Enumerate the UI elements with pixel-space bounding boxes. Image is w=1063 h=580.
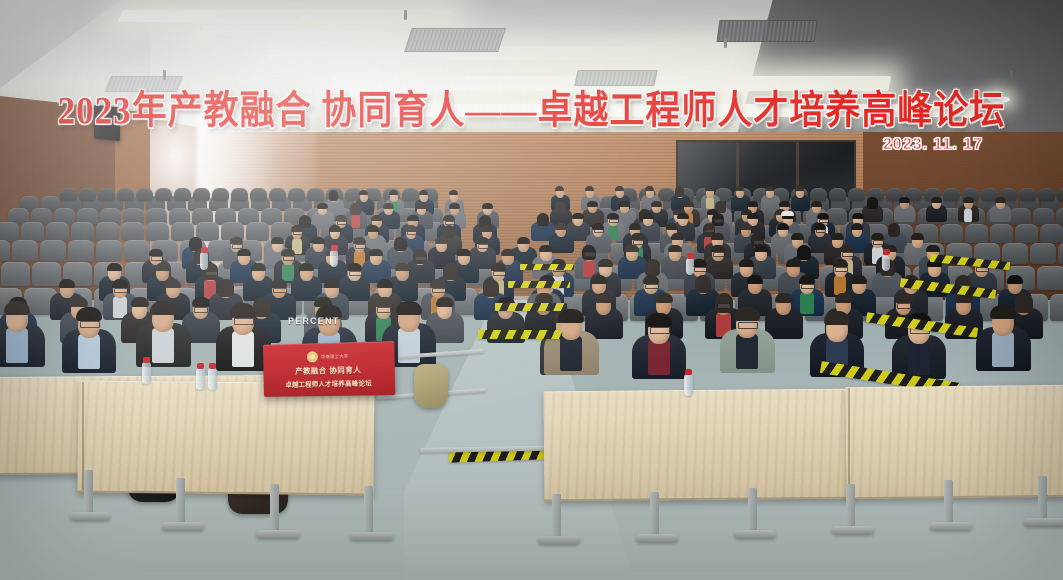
water-bottle [196,368,205,390]
grey lecture hall seat [174,188,191,201]
audience-hair [396,301,422,315]
audience-hair [598,259,613,267]
grey lecture hall seat [940,224,963,243]
grey lecture hall seat [1058,243,1063,264]
desk-foot [162,522,204,530]
audience-hair [150,301,176,315]
audience-hair [329,225,341,232]
audience-hair [483,279,499,297]
eyeglasses-icon [407,231,417,235]
audience-hair [555,186,564,191]
grey lecture hall seat [1050,294,1063,321]
audience-hair [625,245,639,252]
audience-hair [383,203,394,209]
ceiling-light-strip [266,46,740,60]
backpack [414,364,448,408]
grey lecture hall seat [307,188,324,201]
step-hazard-marker [495,303,567,311]
audience-hair [734,307,760,321]
audience-hair [359,190,368,195]
audience-hair [491,263,506,271]
grey lecture hall seat [1019,188,1036,201]
sweater-text: PERCENT [288,316,339,326]
audience-hair [367,225,379,232]
audience-hair [851,275,867,284]
university-crest-icon [307,351,318,362]
audience-hair [4,301,30,315]
audience-hair [155,263,170,271]
eyeglasses-icon [594,229,604,233]
audience-hair [797,245,811,260]
grey lecture hall seat [848,188,865,201]
grey lecture hall seat [1056,208,1063,225]
eyeglasses-icon [650,327,670,334]
placard-university-name: 华南理工大学 [321,353,349,360]
audience-hair [747,213,759,219]
water-bottle [330,250,338,267]
audience-shirt [736,334,758,369]
audience-hair [963,197,974,203]
grey lecture hall seat [121,222,144,241]
audience-hair [643,275,659,284]
desk-foot [1024,518,1063,526]
audience-hair [671,233,684,240]
audience-hair [407,215,419,221]
desk-leg [270,484,279,534]
eyeglasses-icon [801,284,815,289]
audience-hair [587,201,598,207]
grey lecture hall seat [32,262,61,286]
audience-hair [107,263,122,271]
eyeglasses-icon [816,229,826,233]
grey lecture hall seat [12,240,38,261]
eyeglasses-icon [717,303,731,309]
eyeglasses-icon [842,252,854,257]
sprinkler-head-icon [163,70,166,80]
audience-hair [692,259,707,267]
placard-logo: 华南理工大学 [307,350,349,362]
eyeglasses-icon [873,240,884,245]
audience-hair [165,279,181,288]
grey lecture hall seat [193,188,210,201]
table-placard-sign: 华南理工大学 产教融合 协同育人 卓越工程师人才培养高峰论坛 [263,341,395,397]
audience-shirt [282,263,294,281]
audience-hair [395,263,410,271]
audience-hair [995,197,1006,203]
placard-line-1: 产教融合 协同育人 [295,364,361,376]
eyeglasses-icon [337,221,347,225]
audience-hair [646,313,672,327]
desk-foot [930,522,972,530]
water-bottle [684,374,693,396]
audience-hair [237,249,251,256]
audience-hair [705,186,714,191]
eyeglasses-icon [738,322,758,329]
desk-foot [832,526,874,534]
grey lecture hall seat [117,188,134,201]
audience-hair [711,233,724,240]
audience-hair [271,279,287,288]
audience-hair [1007,275,1023,284]
audience-hair [558,309,584,323]
desk-foot [636,534,678,542]
audience-hair [324,279,340,288]
audience-shirt [78,334,100,369]
audience-hair [811,201,822,207]
audience-hair [482,203,493,209]
desk-leg [364,486,373,536]
audience-hair [775,293,793,303]
ceiling-downlight [300,16,314,21]
grey lecture hall seat [212,188,229,201]
eyeglasses-icon [493,271,506,276]
audience-hair [695,275,711,293]
grey lecture hall seat [60,188,77,201]
audience-hair [795,186,804,191]
grey lecture hall seat [0,240,10,261]
audience-shirt [648,340,670,375]
audience-hair [931,197,942,203]
grey lecture hall seat [1040,224,1063,243]
audience-hair [271,237,284,244]
audience-hair [645,186,654,191]
grey lecture hall seat [136,188,153,201]
audience-hair [555,201,566,213]
desk-leg [944,480,953,526]
eyeglasses-icon [897,303,911,309]
audience-hair [317,203,328,209]
audience-hair [394,237,407,251]
audience-hair [651,201,662,207]
audience-hair [369,249,383,256]
eyeglasses-icon [835,267,848,272]
step-hazard-marker [508,281,570,288]
sprinkler-head-icon [1010,70,1013,80]
audience-hair [535,293,553,303]
ceiling-vent [716,20,817,42]
eyeglasses-icon [377,307,391,313]
eyeglasses-icon [713,252,725,257]
audience-hair [281,249,295,256]
eyeglasses-icon [355,244,366,249]
eyeglasses-icon [194,307,208,313]
audience-hair [786,259,801,267]
grey lecture hall seat [1010,208,1031,225]
audience-hair [747,275,763,284]
grey lecture hall seat [1038,188,1055,201]
audience-shirt [800,292,814,314]
eyeglasses-icon [432,288,446,293]
step-hazard-marker [520,264,574,270]
audience-hair [668,245,682,252]
audience-hair [824,311,850,325]
ceiling-light-strip [117,10,452,22]
audience-hair [435,237,448,244]
eyeglasses-icon [234,318,254,325]
ceiling-vent [105,76,183,92]
audience-hair [481,225,493,232]
audience-hair [779,201,790,207]
front-desk [77,380,374,495]
audience-hair [799,275,815,284]
audience-hair [353,237,366,244]
eyeglasses-icon [205,271,218,276]
wall-speaker-icon [94,105,120,142]
audience-hair [740,223,752,230]
audience-hair [851,223,863,230]
grey lecture hall seat [146,222,169,241]
audience-hair [59,279,75,288]
eyeglasses-icon [584,252,596,257]
grey lecture hall seat [943,188,960,201]
audience-hair [666,223,678,230]
audience-hair [443,263,458,280]
desk-leg [650,492,659,538]
desk-foot [538,536,580,544]
audience-hair [677,213,689,219]
audience-hair [192,297,210,307]
audience-hair [871,233,884,240]
eyeglasses-icon [694,267,707,272]
water-bottle [142,362,151,384]
water-bottle [208,368,217,390]
audience-hair [833,259,848,267]
audience-hair [449,190,458,195]
grey lecture hall seat [79,188,96,201]
eyeglasses-icon [273,288,287,293]
audience-hair [416,203,427,209]
audience-shirt [908,340,930,375]
grey lecture hall seat [155,188,172,201]
hat [781,211,794,216]
grey lecture hall seat [68,240,94,261]
eyeglasses-icon [415,256,427,261]
audience-hair [888,223,900,237]
placard-line-2: 卓越工程师人才培养高峰论坛 [285,378,372,389]
audience-hair [218,279,234,297]
desk-leg [748,488,757,534]
sprinkler-head-icon [404,10,407,20]
grey lecture hall seat [246,222,269,241]
audience-hair [537,213,549,226]
audience-hair [371,215,383,221]
audience-hair [375,297,393,307]
grey lecture hall seat [1057,188,1063,201]
audience-hair [555,223,567,230]
audience-hair [675,186,684,197]
eyeglasses-icon [645,284,659,289]
grey lecture hall seat [250,188,267,201]
desk-leg [846,484,855,530]
audience-hair [867,197,878,209]
grey lecture hall seat [288,188,305,201]
desk-leg [84,470,93,516]
grey lecture hall seat [1030,243,1056,264]
audience-hair [852,213,864,219]
eyeglasses-icon [283,256,295,261]
grey lecture hall seat [46,222,69,241]
step-hazard-marker [478,330,562,339]
audience-hair [230,237,243,244]
desk-foot [70,512,110,520]
audience-shirt [152,328,174,363]
audience-hair [683,201,694,207]
eyeglasses-icon [609,219,619,223]
audience-hair [585,186,594,191]
audience-hair [899,197,910,203]
water-bottle [686,258,694,275]
desk-leg [1038,476,1047,522]
audience-shirt [992,332,1014,367]
audience-hair [517,237,530,244]
audience-hair [430,279,446,288]
audience-hair [1015,293,1033,313]
audience-hair [835,293,853,303]
eyeglasses-icon [80,321,100,328]
audience-hair [831,233,844,240]
eyeglasses-icon [293,231,303,235]
audience-hair [70,297,88,307]
eyeglasses-icon [114,288,128,293]
grey lecture hall seat [124,240,150,261]
eyeglasses-icon [349,271,362,276]
grey lecture hall seat [40,240,66,261]
audience-hair [595,293,613,303]
audience-shirt [351,214,360,228]
audience-hair [777,223,789,230]
audience-hair [645,259,660,276]
audience-shirt [560,336,582,371]
grey lecture hall seat [0,222,19,241]
audience-hair [389,190,398,195]
audience-hair [76,307,102,321]
desk-leg [176,478,185,526]
audience-hair [619,201,630,207]
sprinkler-head-icon [724,38,727,48]
audience-hair [149,249,163,256]
grey lecture hall seat [1,262,30,286]
grey lecture hall seat [98,188,115,201]
audience-hair [735,186,744,191]
water-bottle [882,254,890,271]
grey lecture hall seat [990,224,1013,243]
ceiling-downlight [988,96,1010,103]
desk-leg [552,494,561,540]
audience-hair [112,279,128,288]
audience-hair [591,275,607,284]
grey lecture hall seat [21,222,44,241]
audience-hair [501,249,515,256]
grey lecture hall seat [231,188,248,201]
audience-hair [436,297,454,307]
desk-foot [350,532,394,540]
audience-hair [251,263,266,271]
grey lecture hall seat [829,188,846,201]
audience-hair [711,245,725,252]
audience-hair [131,297,149,307]
audience-hair [791,233,804,240]
audience-shirt [232,331,254,367]
audience-hair [765,186,774,191]
audience-hair [747,201,758,207]
grey lecture hall seat [1037,266,1063,290]
front-desk [544,389,853,502]
grey lecture hall seat [1015,224,1038,243]
audience-hair [230,303,256,318]
front-desk [845,385,1063,499]
audience-hair [642,213,654,219]
grey lecture hall seat [96,222,119,241]
audience-hair [347,263,362,271]
audience-hair [754,245,768,252]
ceiling-vent [574,70,657,86]
audience-hair [539,245,553,252]
audience-hair [655,293,673,303]
audience-hair [895,293,913,303]
grey lecture hall seat [269,188,286,201]
audience-hair [572,213,584,219]
audience-hair [840,245,854,252]
audience-hair [476,237,489,244]
ceiling-light-strip [359,104,981,117]
audience-hair [615,186,624,191]
audience-hair [377,279,393,288]
desk-seam [848,388,850,494]
photo-canvas: PERCENT [0,0,1063,580]
audience-hair [419,190,428,195]
audience-shirt [964,208,972,222]
grey lecture hall seat [965,224,988,243]
eyeglasses-icon [151,256,163,261]
desk-foot [734,530,776,538]
eyeglasses-icon [714,219,724,223]
eyeglasses-icon [478,244,489,249]
grey lecture hall seat [402,188,419,201]
audience-hair [449,203,460,209]
audience-shirt [6,328,28,363]
audience-hair [312,237,325,244]
ceiling-vent [404,28,506,52]
desk-foot [256,530,300,538]
audience-hair [631,233,644,240]
audience-hair [911,233,924,240]
audience-hair [926,245,940,252]
grey lecture hall seat [1033,208,1054,225]
grey lecture hall seat [810,188,827,201]
grey lecture hall seat [96,240,122,261]
water-bottle [200,252,208,270]
audience-hair [329,190,338,201]
audience-hair [990,305,1016,319]
audience-hair [739,259,754,267]
audience-hair [457,249,471,256]
grey lecture hall seat [71,222,94,241]
audience-hair [299,263,314,271]
audience-hair [350,203,361,215]
audience-hair [629,223,641,230]
